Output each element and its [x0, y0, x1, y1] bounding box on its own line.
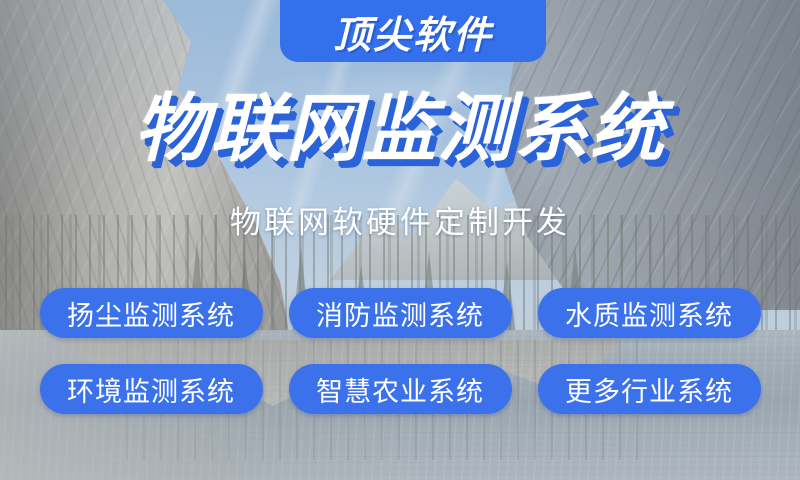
banner-content: 顶尖软件 物联网监测系统 物联网软硬件定制开发 扬尘监测系统 消防监测系统 水质…: [0, 0, 800, 480]
category-button-row-1: 扬尘监测系统 消防监测系统 水质监测系统: [0, 288, 800, 338]
category-button-water-quality-monitoring[interactable]: 水质监测系统: [538, 288, 761, 338]
category-button-environment-monitoring[interactable]: 环境监测系统: [40, 364, 263, 414]
brand-badge-label: 顶尖软件: [333, 16, 493, 54]
category-button-fire-monitoring[interactable]: 消防监测系统: [289, 288, 512, 338]
category-button-grid: 扬尘监测系统 消防监测系统 水质监测系统 环境监测系统 智慧农业系统 更多行业系…: [0, 288, 800, 440]
banner-subtitle: 物联网软硬件定制开发: [0, 208, 800, 239]
category-button-more-industries[interactable]: 更多行业系统: [538, 364, 761, 414]
banner-title: 物联网监测系统: [0, 92, 800, 166]
category-button-row-2: 环境监测系统 智慧农业系统 更多行业系统: [0, 364, 800, 414]
category-button-dust-monitoring[interactable]: 扬尘监测系统: [40, 288, 263, 338]
category-button-smart-agriculture[interactable]: 智慧农业系统: [289, 364, 512, 414]
brand-badge: 顶尖软件: [280, 0, 546, 62]
promo-banner: 顶尖软件 物联网监测系统 物联网软硬件定制开发 扬尘监测系统 消防监测系统 水质…: [0, 0, 800, 480]
